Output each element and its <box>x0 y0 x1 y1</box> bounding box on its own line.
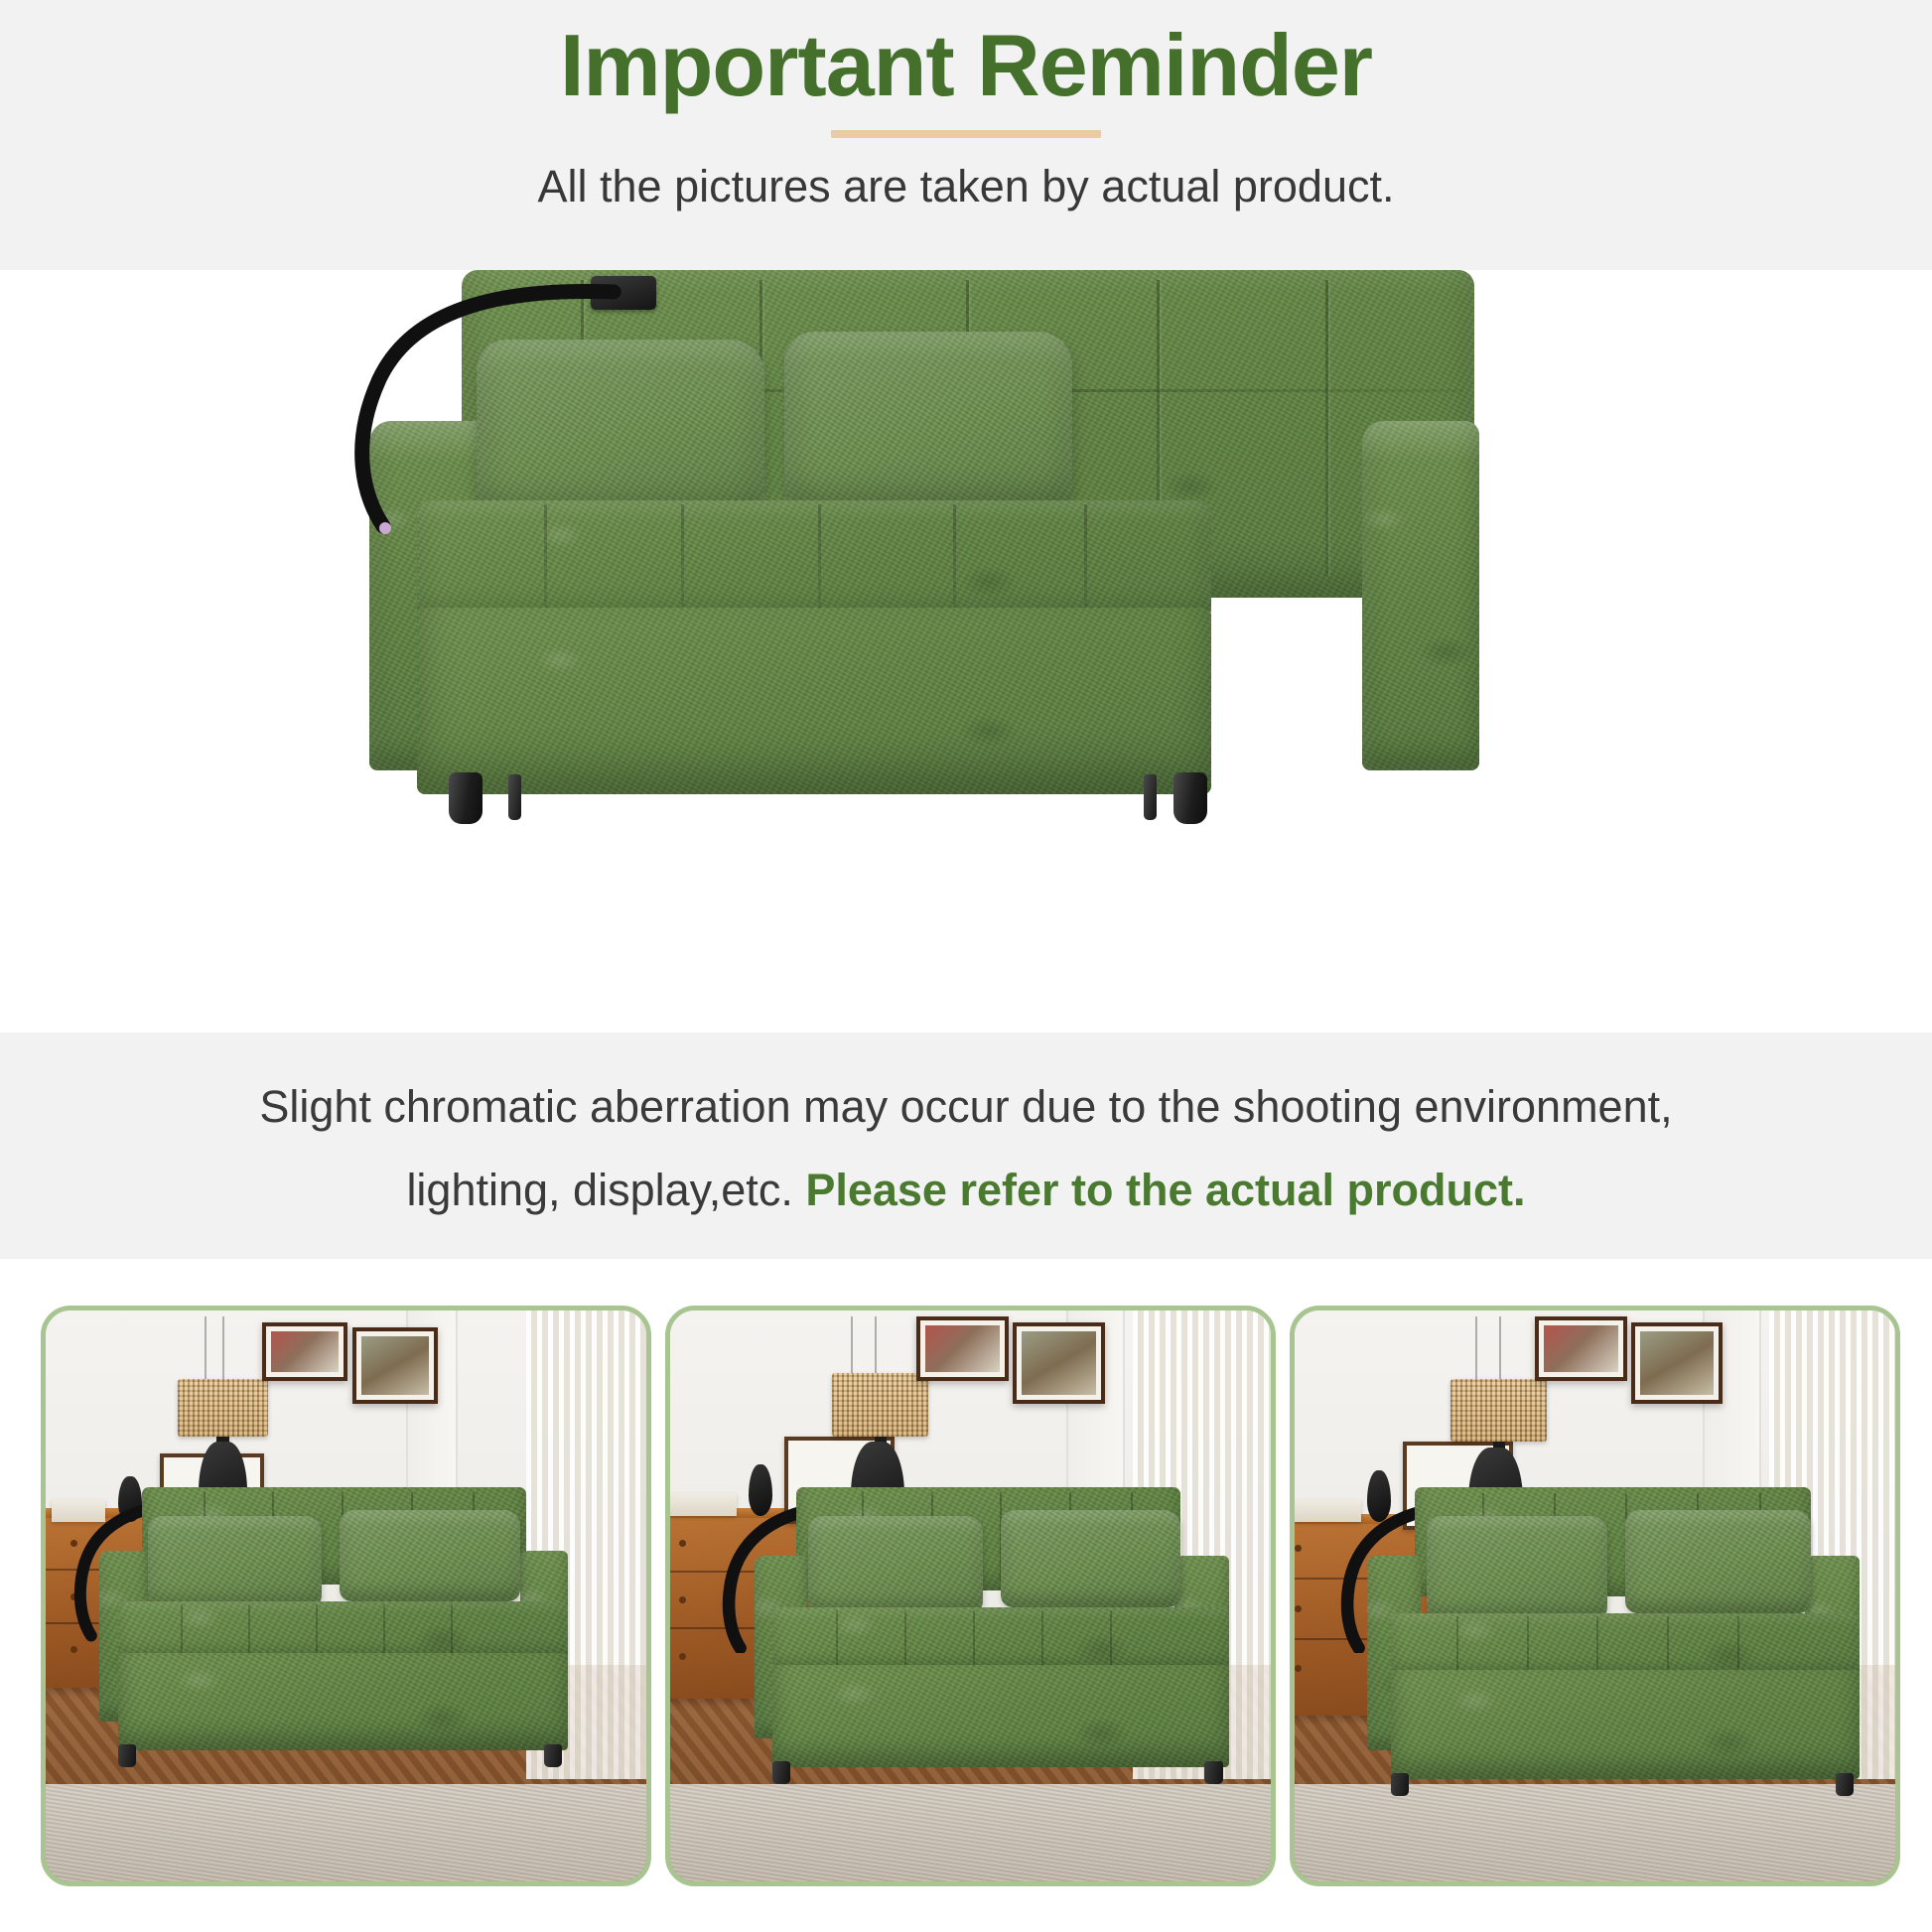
sofa-pillow-right <box>1625 1510 1812 1613</box>
wall-art-1 <box>1535 1316 1627 1382</box>
sofa-base-panel <box>1391 1670 1860 1778</box>
thumbnail-1[interactable] <box>41 1306 651 1886</box>
reminder-banner: Important Reminder All the pictures are … <box>0 0 1932 270</box>
sofa-leg-right <box>1836 1773 1854 1796</box>
sofa-leg-left <box>118 1744 136 1767</box>
sofa-seat-cushion <box>772 1607 1229 1670</box>
sofa-leg-front-left <box>449 772 483 824</box>
sofa-base-panel <box>772 1665 1229 1768</box>
area-rug <box>1295 1784 1895 1881</box>
lamp-shade <box>1450 1379 1547 1442</box>
page-title: Important Reminder <box>0 22 1932 109</box>
hero-product-image <box>0 270 1932 1033</box>
sofa-base-panel <box>417 608 1211 794</box>
chromatic-aberration-notice: Slight chromatic aberration may occur du… <box>0 1033 1932 1259</box>
sofa-leg-rear-right <box>1144 774 1157 820</box>
wall-art-1 <box>262 1322 348 1382</box>
wall-art-2 <box>1631 1322 1724 1405</box>
room-scene-3 <box>1295 1311 1895 1881</box>
thumbnail-2[interactable] <box>665 1306 1276 1886</box>
sofa-arm-right <box>1362 421 1479 770</box>
wall-art-1 <box>916 1316 1009 1382</box>
sofa-leg-front-right <box>1173 772 1207 824</box>
wall-art-2 <box>352 1327 439 1404</box>
sofa-leg-right <box>1204 1761 1222 1784</box>
sofa-pillow-left <box>808 1516 982 1613</box>
thumbnail-gallery <box>0 1259 1932 1932</box>
sofa-pillow-right <box>1001 1510 1181 1607</box>
sofa-leg-left <box>772 1761 790 1784</box>
sofa-leg-right <box>544 1744 562 1767</box>
notice-emphasis: Please refer to the actual product. <box>805 1165 1525 1215</box>
sofa-base-panel <box>118 1653 569 1750</box>
sofa-leg-left <box>1391 1773 1409 1796</box>
area-rug <box>670 1784 1271 1881</box>
charging-cable-icon <box>298 270 715 558</box>
wall-art-2 <box>1013 1322 1105 1405</box>
lamp-shade <box>178 1379 268 1437</box>
thumbnail-3[interactable] <box>1290 1306 1900 1886</box>
banner-subtitle: All the pictures are taken by actual pro… <box>0 159 1932 214</box>
hero-sofa-illustration <box>0 270 1932 1033</box>
sofa-leg-rear-left <box>508 774 521 820</box>
room-scene-1 <box>46 1311 646 1881</box>
sofa-seat-cushion <box>118 1601 569 1659</box>
notice-line-2-plain: lighting, display,etc. <box>406 1165 805 1215</box>
sofa-pillow-left <box>1427 1516 1607 1619</box>
room-scene-2 <box>670 1311 1271 1881</box>
sofa-pillow-left <box>148 1516 322 1607</box>
sofa-pillow-right <box>784 332 1072 510</box>
sofa-pillow-right <box>340 1510 520 1601</box>
notice-line-2: lighting, display,etc. Please refer to t… <box>0 1168 1932 1212</box>
sofa-seat-cushion <box>1391 1613 1860 1676</box>
product-infographic-page: Important Reminder All the pictures are … <box>0 0 1932 1932</box>
area-rug <box>46 1784 646 1881</box>
lamp-shade <box>832 1373 928 1436</box>
notice-line-1: Slight chromatic aberration may occur du… <box>0 1084 1932 1129</box>
title-divider <box>831 130 1101 138</box>
